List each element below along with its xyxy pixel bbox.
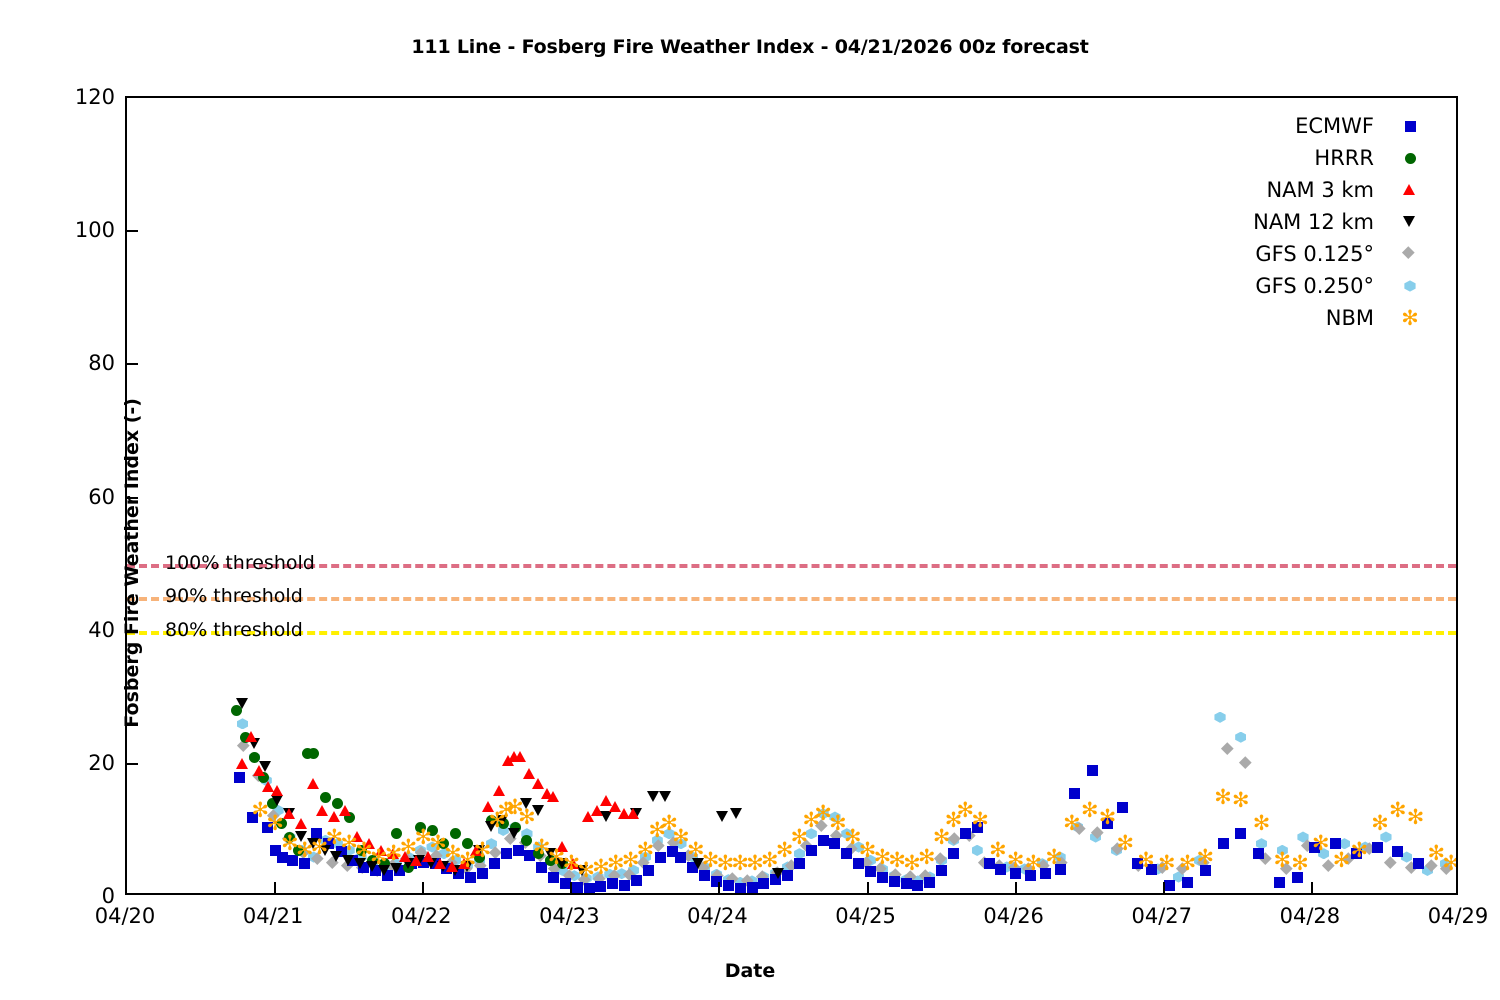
y-tick-label: 20 — [5, 753, 115, 774]
square-icon — [1400, 116, 1420, 136]
hexagon-icon — [1400, 276, 1420, 296]
x-tick-mark — [422, 882, 424, 893]
legend-label: NBM — [1326, 306, 1400, 330]
y-tick-label: 40 — [5, 620, 115, 641]
x-tick-mark — [1311, 882, 1313, 893]
y-tick-mark — [127, 630, 138, 632]
legend: ECMWFHRRRNAM 3 kmNAM 12 kmGFS 0.125°GFS … — [1190, 110, 1420, 334]
legend-label: ECMWF — [1295, 114, 1400, 138]
y-tick-mark — [127, 230, 138, 232]
x-tick-mark — [1015, 882, 1017, 893]
data-point: ✻ — [1441, 853, 1456, 874]
legend-item-gfs-0-250[interactable]: GFS 0.250° — [1190, 270, 1420, 302]
x-tick-label: 04/25 — [796, 906, 936, 927]
x-tick-mark — [1163, 882, 1165, 893]
data-point: ✻ — [1115, 833, 1136, 854]
x-tick-label: 04/21 — [203, 906, 343, 927]
legend-item-gfs-0-125[interactable]: GFS 0.125° — [1190, 238, 1420, 270]
data-point: ✻ — [1310, 833, 1331, 854]
y-tick-mark — [127, 497, 138, 499]
legend-label: HRRR — [1314, 146, 1400, 170]
y-tick-label: 60 — [5, 487, 115, 508]
triangle-down-icon — [1400, 212, 1420, 232]
data-point: ✻ — [1136, 850, 1157, 871]
legend-item-nbm[interactable]: NBM✻ — [1190, 302, 1420, 334]
x-tick-label: 04/24 — [647, 906, 787, 927]
x-tick-label: 04/22 — [351, 906, 491, 927]
circle-icon — [1400, 148, 1420, 168]
legend-label: GFS 0.125° — [1255, 242, 1400, 266]
y-tick-label: 100 — [5, 220, 115, 241]
legend-item-nam-3-km[interactable]: NAM 3 km — [1190, 174, 1420, 206]
triangle-up-icon — [1400, 180, 1420, 200]
data-point: ✻ — [1023, 853, 1044, 874]
data-point: ✻ — [1251, 813, 1272, 834]
legend-marker-glyph — [1404, 280, 1415, 291]
x-tick-label: 04/27 — [1092, 906, 1232, 927]
legend-marker-glyph — [1405, 153, 1416, 164]
data-point: ✻ — [1156, 853, 1177, 874]
y-tick-mark — [127, 363, 138, 365]
legend-item-ecmwf[interactable]: ECMWF — [1190, 110, 1420, 142]
x-tick-mark — [718, 882, 720, 893]
legend-marker-glyph — [1405, 121, 1416, 132]
x-axis-title: Date — [0, 960, 1500, 982]
asterisk-icon: ✻ — [1400, 308, 1420, 328]
x-tick-label: 04/23 — [499, 906, 639, 927]
legend-label: NAM 3 km — [1266, 178, 1400, 202]
legend-marker-glyph — [1402, 246, 1414, 258]
data-point: ✻ — [1290, 853, 1311, 874]
x-tick-label: 04/29 — [1388, 906, 1500, 927]
y-tick-label: 80 — [5, 353, 115, 374]
diamond-icon — [1400, 244, 1420, 264]
legend-item-nam-12-km[interactable]: NAM 12 km — [1190, 206, 1420, 238]
x-tick-label: 04/20 — [55, 906, 195, 927]
legend-marker-glyph — [1403, 216, 1415, 227]
data-point: ✻ — [1230, 790, 1251, 811]
x-tick-mark — [867, 882, 869, 893]
data-point: ✻ — [916, 847, 937, 868]
data-point: ✻ — [1349, 840, 1370, 861]
data-point: ✻ — [472, 840, 493, 861]
data-point: ✻ — [635, 840, 656, 861]
y-tick-label: 120 — [5, 87, 115, 108]
legend-item-hrrr[interactable]: HRRR — [1190, 142, 1420, 174]
legend-label: NAM 12 km — [1253, 210, 1400, 234]
legend-label: GFS 0.250° — [1255, 274, 1400, 298]
data-point: ✻ — [1097, 807, 1118, 828]
chart-page: 111 Line - Fosberg Fire Weather Index - … — [0, 0, 1500, 1000]
legend-marker-glyph: ✻ — [1400, 308, 1421, 329]
data-point: ✻ — [1195, 847, 1216, 868]
y-axis-title: Fosberg Fire Weather Index (-) — [121, 398, 143, 728]
x-tick-mark — [274, 882, 276, 893]
x-tick-label: 04/26 — [944, 906, 1084, 927]
x-tick-mark — [570, 882, 572, 893]
y-tick-mark — [127, 763, 138, 765]
x-tick-label: 04/28 — [1240, 906, 1380, 927]
data-point: ✻ — [516, 807, 537, 828]
legend-marker-glyph — [1403, 184, 1415, 195]
data-point: ✻ — [1044, 847, 1065, 868]
page-title: 111 Line - Fosberg Fire Weather Index - … — [0, 36, 1500, 58]
data-point: ✻ — [970, 810, 991, 831]
data-point: ✻ — [1405, 807, 1426, 828]
